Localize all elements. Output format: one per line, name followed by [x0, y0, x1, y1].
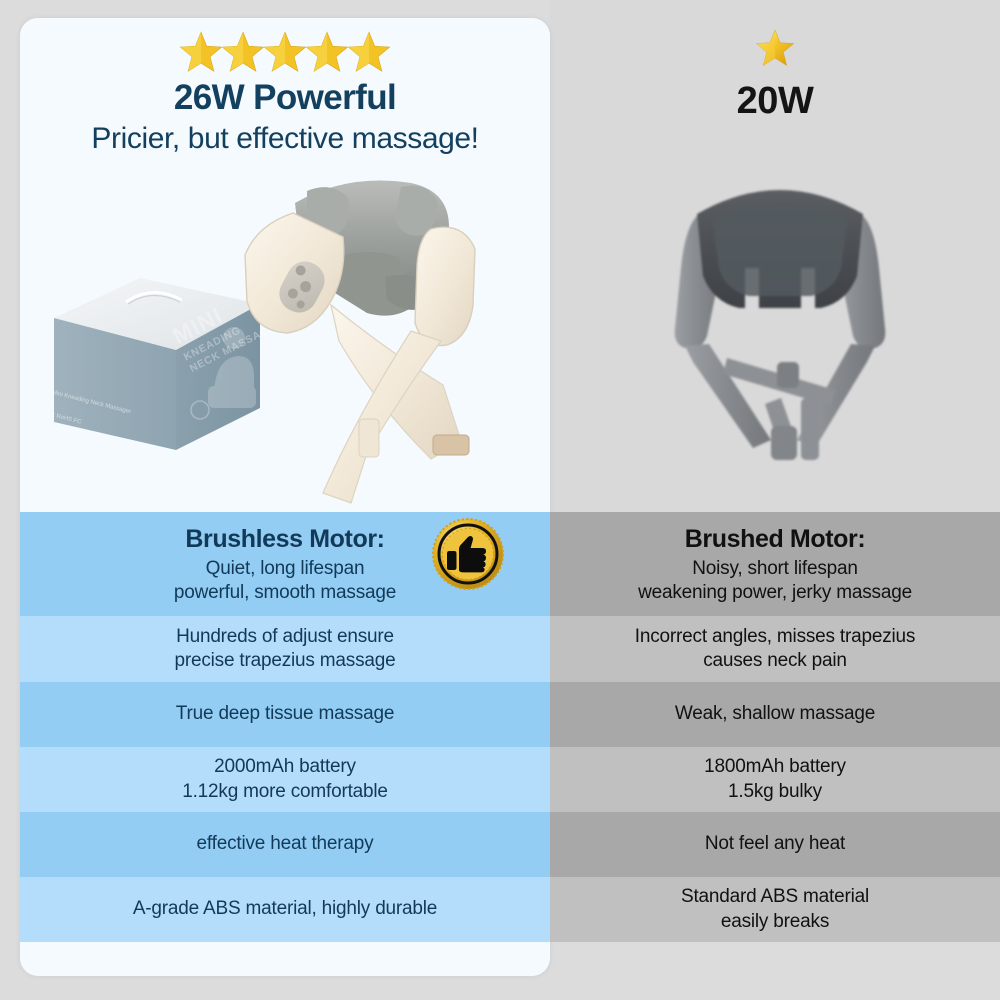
gold-star-icon — [305, 30, 349, 74]
feature-cell: 1800mAh battery 1.5kg bulky — [704, 755, 846, 804]
featured-subtitle: Pricier, but effective massage! — [20, 122, 550, 156]
feature-cell: Weak, shallow massage — [675, 702, 875, 726]
feature-row-line: easily breaks — [681, 910, 869, 934]
feature-row: Hundreds of adjust ensure precise trapez… — [20, 616, 550, 682]
feature-cell: Incorrect angles, misses trapezius cause… — [635, 625, 915, 674]
feature-row: Not feel any heat — [550, 812, 1000, 877]
feature-cell: Brushed Motor: Noisy, short lifespan wea… — [638, 523, 912, 606]
feature-row-line: causes neck pain — [635, 649, 915, 673]
feature-cell: Standard ABS material easily breaks — [681, 885, 869, 934]
feature-row-line: weakening power, jerky massage — [638, 581, 912, 605]
feature-row-title: Brushless Motor: — [174, 523, 396, 555]
feature-row-line: A-grade ABS material, highly durable — [133, 897, 437, 921]
gold-star-icon — [179, 30, 223, 74]
competitor-star-rating — [550, 28, 1000, 68]
feature-row: Incorrect angles, misses trapezius cause… — [550, 616, 1000, 682]
competitor-hero: 20W — [550, 0, 1000, 512]
gold-star-icon — [347, 30, 391, 74]
feature-cell: effective heat therapy — [197, 832, 374, 856]
feature-row-line: Quiet, long lifespan — [174, 557, 396, 581]
feature-row-line: Not feel any heat — [705, 832, 845, 856]
featured-hero: 26W Powerful Pricier, but effective mass… — [20, 18, 550, 512]
feature-row: 2000mAh battery 1.12kg more comfortable — [20, 747, 550, 812]
feature-row-line: precise trapezius massage — [175, 649, 396, 673]
feature-row-line: Weak, shallow massage — [675, 702, 875, 726]
feature-row-line: 2000mAh battery — [182, 755, 388, 779]
competitor-product-image — [635, 148, 925, 468]
feature-cell: True deep tissue massage — [176, 702, 394, 726]
feature-row: effective heat therapy — [20, 812, 550, 877]
feature-row-line: 1.5kg bulky — [704, 780, 846, 804]
feature-row: Brushed Motor: Noisy, short lifespan wea… — [550, 512, 1000, 616]
feature-cell: Hundreds of adjust ensure precise trapez… — [175, 625, 396, 674]
gold-star-icon — [755, 28, 795, 68]
feature-row: A-grade ABS material, highly durable — [20, 877, 550, 942]
feature-row: 1800mAh battery 1.5kg bulky — [550, 747, 1000, 812]
feature-cell: Brushless Motor: Quiet, long lifespan po… — [174, 523, 396, 606]
feature-cell: A-grade ABS material, highly durable — [133, 897, 437, 921]
feature-row-line: Noisy, short lifespan — [638, 557, 912, 581]
feature-row: Weak, shallow massage — [550, 682, 1000, 747]
feature-row-line: Incorrect angles, misses trapezius — [635, 625, 915, 649]
gold-star-icon — [221, 30, 265, 74]
feature-cell: Not feel any heat — [705, 832, 845, 856]
feature-row-line: powerful, smooth massage — [174, 581, 396, 605]
feature-row-line: 1.12kg more comfortable — [182, 780, 388, 804]
gold-thumbs-up-badge — [432, 518, 504, 590]
featured-power-title: 26W Powerful — [20, 78, 550, 118]
comparison-infographic: 20W — [0, 0, 1000, 1000]
feature-row: Standard ABS material easily breaks — [550, 877, 1000, 942]
featured-product-image — [235, 173, 525, 508]
feature-row: True deep tissue massage — [20, 682, 550, 747]
feature-row-line: Hundreds of adjust ensure — [175, 625, 396, 649]
feature-cell: 2000mAh battery 1.12kg more comfortable — [182, 755, 388, 804]
feature-row-line: 1800mAh battery — [704, 755, 846, 779]
feature-row-line: True deep tissue massage — [176, 702, 394, 726]
competitor-power-title: 20W — [550, 80, 1000, 123]
feature-row-line: effective heat therapy — [197, 832, 374, 856]
feature-row-title: Brushed Motor: — [638, 523, 912, 555]
gold-star-icon — [263, 30, 307, 74]
feature-row-line: Standard ABS material — [681, 885, 869, 909]
featured-star-rating — [20, 30, 550, 74]
